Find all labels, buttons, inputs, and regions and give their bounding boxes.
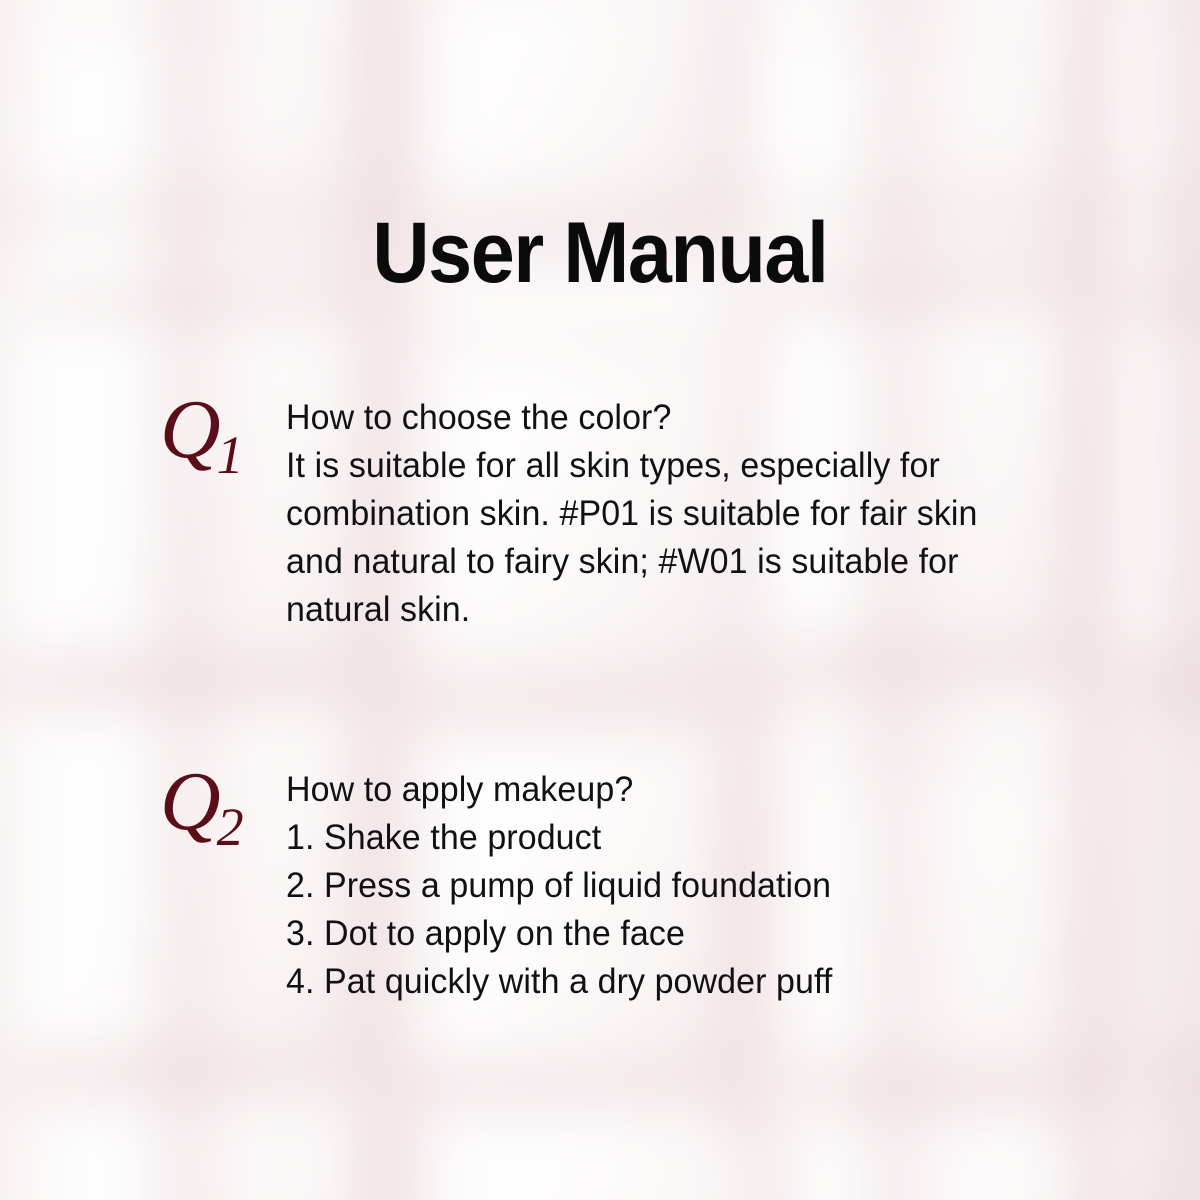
content-layer: User Manual Q1 How to choose the color? … xyxy=(0,0,1200,1200)
faq-marker-number: 2 xyxy=(217,797,244,857)
faq-line: How to choose the color? xyxy=(286,394,978,442)
faq-answer-1: How to choose the color? It is suitable … xyxy=(286,386,978,634)
faq-line: 2. Press a pump of liquid foundation xyxy=(286,862,832,910)
faq-line: How to apply makeup? xyxy=(286,766,832,814)
faq-line: It is suitable for all skin types, espec… xyxy=(286,442,978,490)
faq-item-2: Q2 How to apply makeup? 1. Shake the pro… xyxy=(160,758,849,1006)
faq-line: and natural to fairy skin; #W01 is suita… xyxy=(286,538,978,586)
faq-line: 1. Shake the product xyxy=(286,814,832,862)
faq-item-1: Q1 How to choose the color? It is suitab… xyxy=(160,386,999,634)
faq-marker-letter: Q xyxy=(160,755,221,848)
faq-marker-number: 1 xyxy=(217,425,244,485)
faq-answer-2: How to apply makeup? 1. Shake the produc… xyxy=(286,758,832,1006)
faq-marker-q1: Q1 xyxy=(160,386,286,472)
page-title: User Manual xyxy=(48,210,1152,296)
faq-marker-q2: Q2 xyxy=(160,758,286,844)
faq-line: combination skin. #P01 is suitable for f… xyxy=(286,490,978,538)
user-manual-page: User Manual Q1 How to choose the color? … xyxy=(0,0,1200,1200)
faq-line: 4. Pat quickly with a dry powder puff xyxy=(286,958,832,1006)
faq-line: natural skin. xyxy=(286,586,978,634)
faq-marker-letter: Q xyxy=(160,383,221,476)
faq-line: 3. Dot to apply on the face xyxy=(286,910,832,958)
